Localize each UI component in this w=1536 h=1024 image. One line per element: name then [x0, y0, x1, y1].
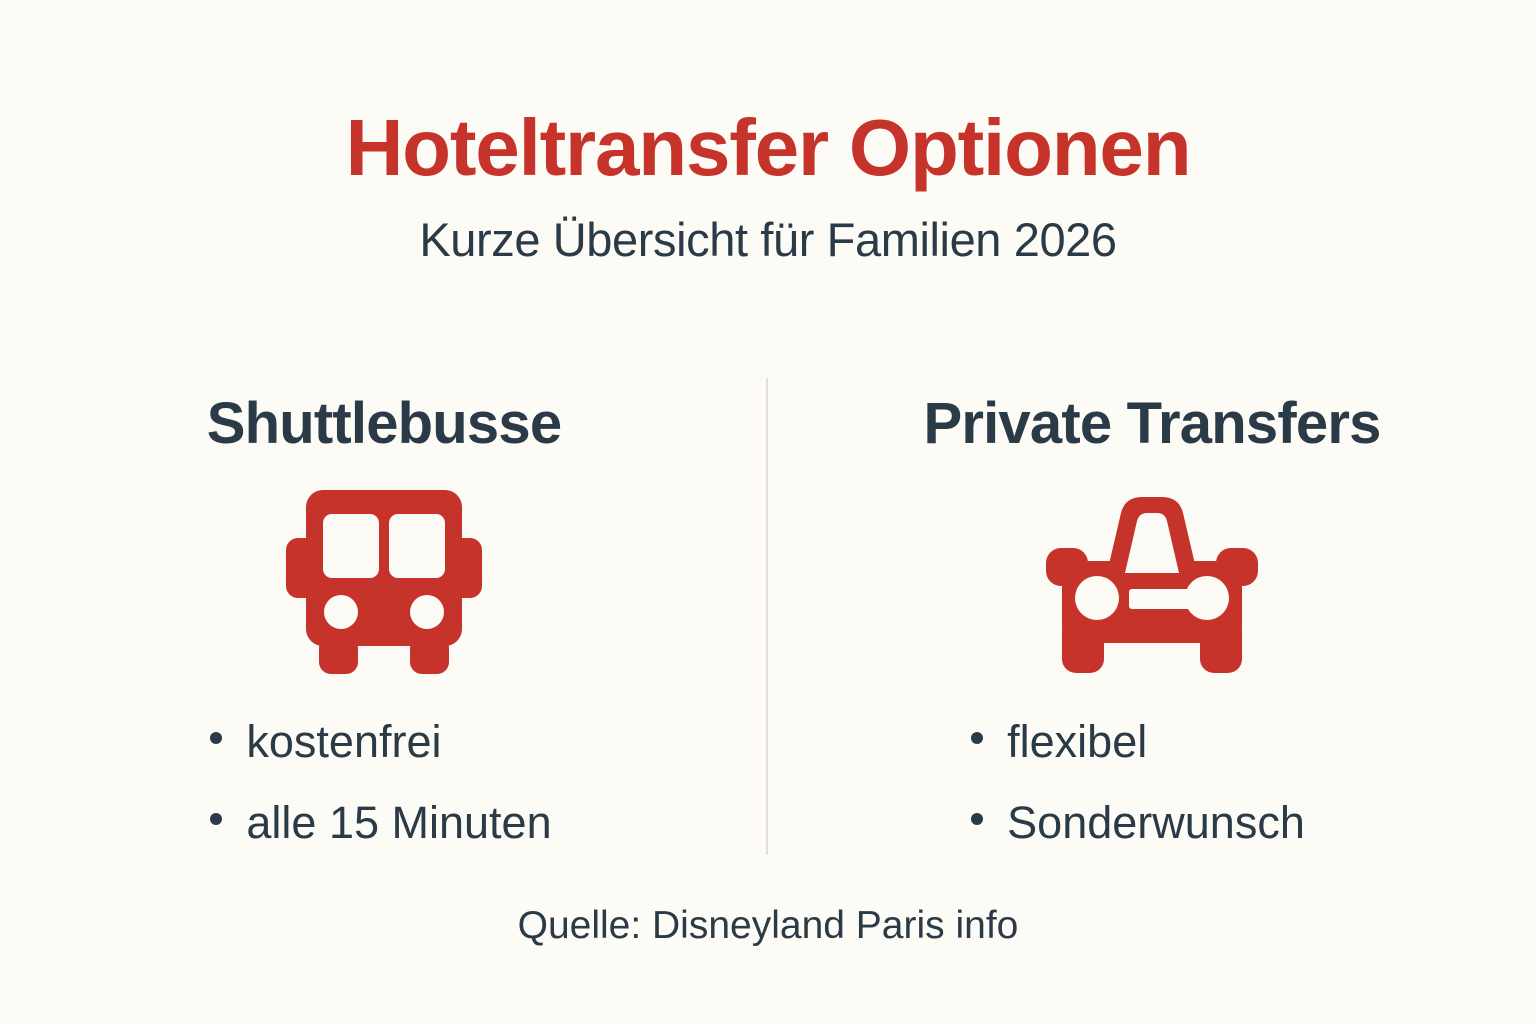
bullet-list-private-transfers: flexibel Sonderwunsch	[971, 719, 1305, 845]
bullet-dot-icon	[971, 732, 983, 744]
list-item: Sonderwunsch	[971, 800, 1305, 845]
column-heading-shuttlebusse: Shuttlebusse	[207, 395, 562, 453]
list-item: alle 15 Minuten	[210, 800, 551, 845]
bus-icon	[286, 489, 482, 675]
bullet-list-shuttlebusse: kostenfrei alle 15 Minuten	[210, 719, 551, 845]
bullet-dot-icon	[971, 813, 983, 825]
column-private-transfers: Private Transfers	[768, 395, 1536, 845]
page-title: Hoteltransfer Optionen	[0, 0, 1536, 188]
footer: Quelle: Disneyland Paris info	[0, 906, 1536, 945]
header: Hoteltransfer Optionen Kurze Übersicht f…	[0, 0, 1536, 263]
bullet-dot-icon	[210, 732, 222, 744]
car-icon	[1046, 489, 1258, 675]
bullet-label: flexibel	[1007, 719, 1147, 764]
bullet-label: kostenfrei	[246, 719, 441, 764]
list-item: flexibel	[971, 719, 1305, 764]
list-item: kostenfrei	[210, 719, 551, 764]
comparison-columns: Shuttlebusse	[0, 395, 1536, 845]
bullet-label: alle 15 Minuten	[246, 800, 551, 845]
infographic-canvas: Hoteltransfer Optionen Kurze Übersicht f…	[0, 0, 1536, 1024]
column-heading-private-transfers: Private Transfers	[923, 395, 1380, 453]
bullet-dot-icon	[210, 813, 222, 825]
page-subtitle: Kurze Übersicht für Familien 2026	[0, 188, 1536, 263]
source-attribution: Quelle: Disneyland Paris info	[0, 906, 1536, 945]
column-shuttlebusse: Shuttlebusse	[0, 395, 768, 845]
bullet-label: Sonderwunsch	[1007, 800, 1305, 845]
